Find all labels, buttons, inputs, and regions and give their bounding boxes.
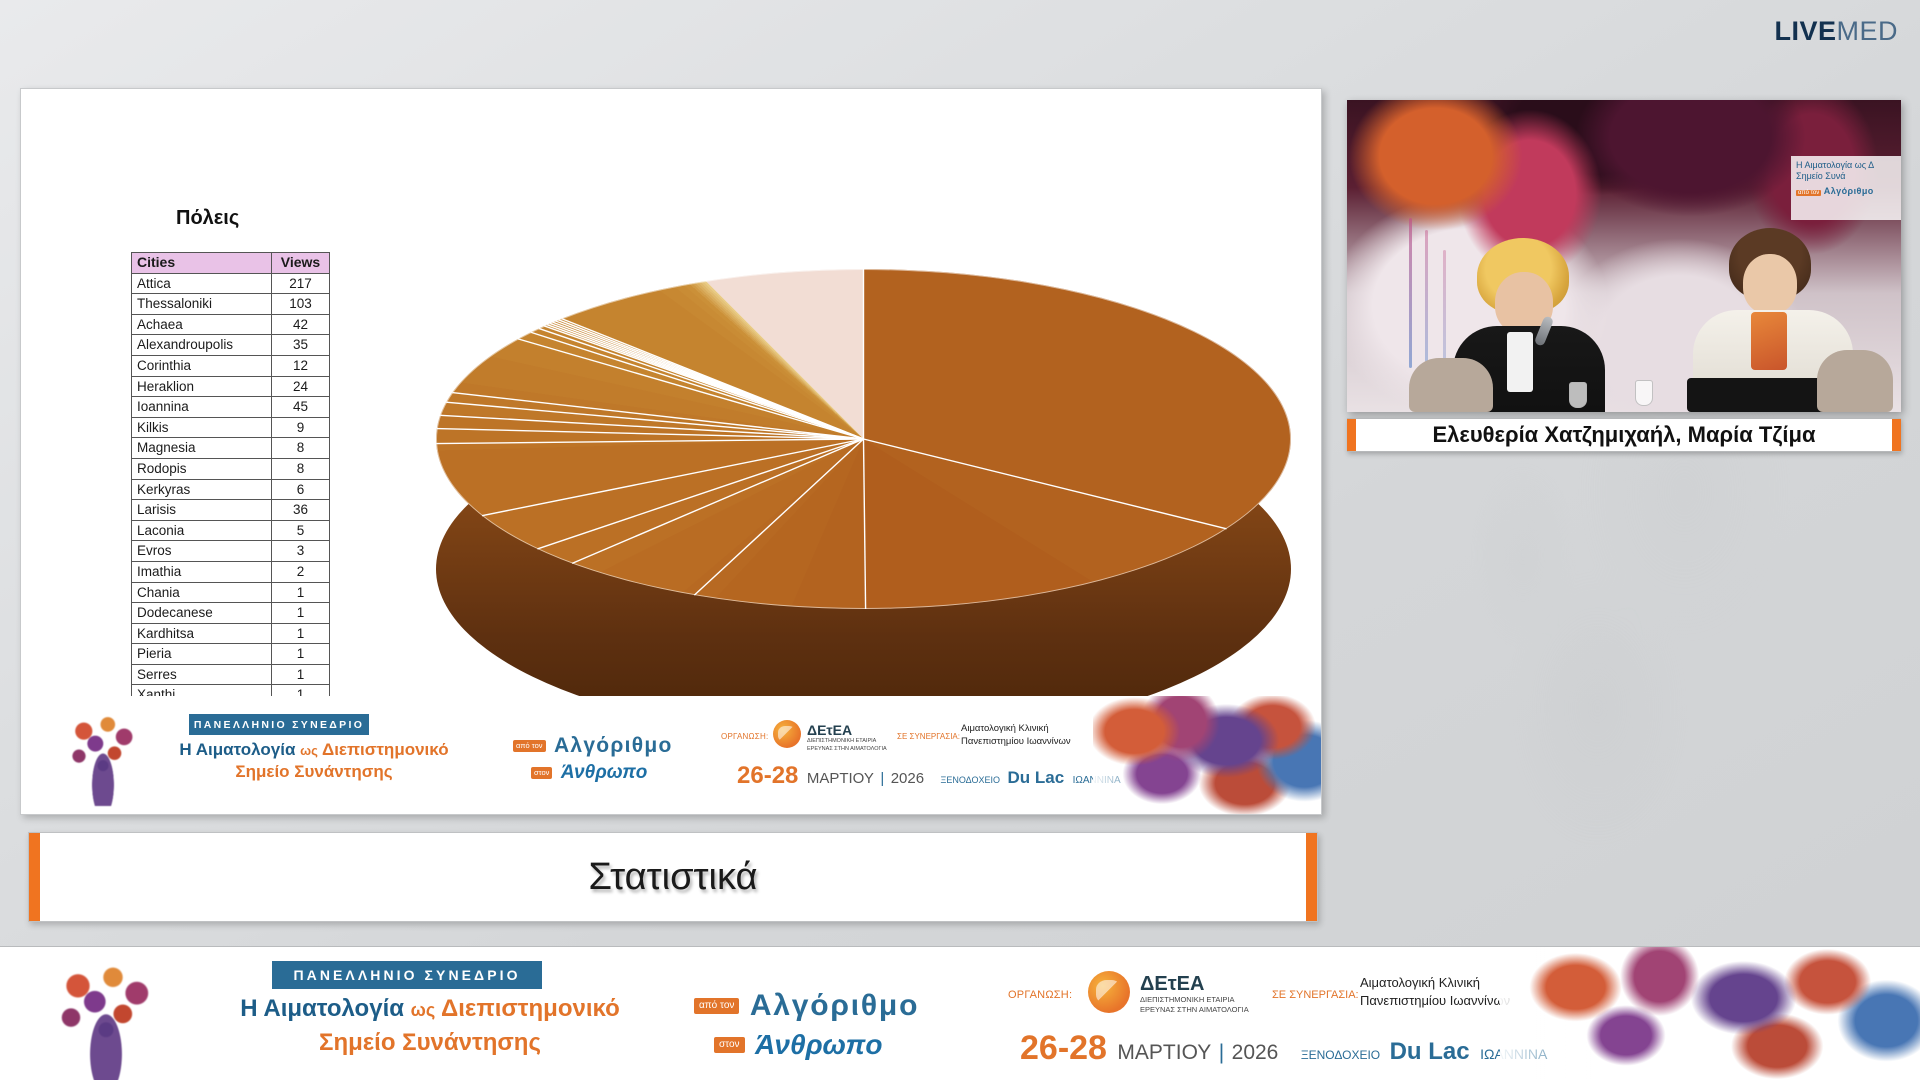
table-row: Thessaloniki103 <box>132 294 330 315</box>
banner-anthro-group: στον Άνθρωπο <box>531 762 647 784</box>
cell-views: 1 <box>272 582 330 603</box>
mini-slide-line1: Η Αιματολογία ως Δ <box>1796 160 1896 171</box>
banner-title-meeting-point: Σημείο Συνάντησης <box>235 762 392 781</box>
cell-views: 5 <box>272 520 330 541</box>
cell-city: Alexandroupolis <box>132 335 272 356</box>
cell-views: 36 <box>272 500 330 521</box>
banner-organizer-sub2: ΕΡΕΥΝΑΣ ΣΤΗΝ ΑΙΜΑΤΟΛΟΓΙΑ <box>807 746 887 752</box>
banner-tag: ΠΑΝΕΛΛΗΝΙΟ ΣΥΝΕΔΡΙΟ <box>189 714 369 735</box>
decor-strand <box>1409 218 1412 368</box>
bottom-algorithm: Αλγόριθμο <box>750 989 919 1022</box>
banner-organizer-sub1: ΔΙΕΠΙΣΤΗΜΟΝΙΚΗ ΕΤΑΙΡΙΑ <box>807 738 876 744</box>
cell-views: 12 <box>272 355 330 376</box>
banner-title-interdisciplinary: Διεπιστημονικό <box>322 740 449 759</box>
banner-title-h: Η <box>179 740 191 759</box>
table-row: Serres1 <box>132 664 330 685</box>
banner-title-hematology: Αιματολογία <box>196 740 296 759</box>
bottom-title-as: ως <box>411 1000 436 1020</box>
tree-logo-icon <box>36 959 176 1080</box>
cell-city: Rodopis <box>132 458 272 479</box>
banner-human: Άνθρωπο <box>561 762 648 783</box>
cell-views: 8 <box>272 458 330 479</box>
banner-venue-name: Du Lac <box>1007 768 1064 787</box>
chair <box>1409 358 1493 412</box>
bottom-banner-artwork <box>1500 947 1920 1080</box>
table-row: Heraklion24 <box>132 376 330 397</box>
table-row: Imathia2 <box>132 561 330 582</box>
cell-city: Larisis <box>132 500 272 521</box>
table-row: Rodopis8 <box>132 458 330 479</box>
banner-title-line1: Η Αιματολογία ως Διεπιστημονικό <box>149 740 479 760</box>
pie-slice-separators <box>436 269 1291 609</box>
banner-algorithm: Αλγόριθμο <box>554 734 673 757</box>
mini-slide-algo: Αλγόριθμο <box>1824 186 1874 196</box>
bottom-organizer-name: ΔΕτΕΑ <box>1140 973 1204 996</box>
banner-title-line2: Σημείο Συνάντησης <box>149 762 479 782</box>
bottom-organizer-sub2: ΕΡΕΥΝΑΣ ΣΤΗΝ ΑΙΜΑΤΟΛΟΓΙΑ <box>1140 1005 1249 1014</box>
table-header-cities: Cities <box>132 253 272 274</box>
table-header-row: Cities Views <box>132 253 330 274</box>
bottom-year: 2026 <box>1232 1041 1279 1064</box>
video-mini-slide-preview: Η Αιματολογία ως Δ Σημείο Συνά από τον Α… <box>1791 156 1901 220</box>
cities-views-table: Cities Views Attica217Thessaloniki103Ach… <box>131 252 330 727</box>
banner-title-as: ως <box>300 743 318 758</box>
table-row: Dodecanese1 <box>132 603 330 624</box>
bottom-partner-line1: Αιματολογική Κλινική <box>1360 975 1480 990</box>
table-row: Kerkyras6 <box>132 479 330 500</box>
bottom-chip-from: από τον <box>694 998 739 1014</box>
bottom-human: Άνθρωπο <box>755 1029 882 1060</box>
cell-views: 3 <box>272 541 330 562</box>
speaker-names: Ελευθερία Χατζημιχαήλ, Μαρία Τζίμα <box>1432 422 1815 448</box>
cell-city: Kilkis <box>132 417 272 438</box>
banner-partner-line2: Πανεπιστημίου Ιωαννίνων <box>961 736 1071 747</box>
bottom-partner-label: ΣΕ ΣΥΝΕΡΓΑΣΙΑ: <box>1272 989 1359 1001</box>
table-row: Laconia5 <box>132 520 330 541</box>
bottom-partner-line2: Πανεπιστημίου Ιωαννίνων <box>1360 993 1510 1008</box>
cell-views: 217 <box>272 273 330 294</box>
mini-slide-line2: Σημείο Συνά <box>1796 171 1896 182</box>
bottom-banner-tag: ΠΑΝΕΛΛΗΝΙΟ ΣΥΝΕΔΡΙΟ <box>272 961 542 989</box>
banner-date-sep: | <box>880 770 884 787</box>
person-scarf <box>1751 312 1787 370</box>
page-title: Πόλεις <box>176 207 239 230</box>
banner-month: ΜΑΡΤΙΟΥ <box>807 770 874 787</box>
banner-partner-label: ΣΕ ΣΥΝΕΡΓΑΣΙΑ: <box>897 732 960 741</box>
cell-views: 42 <box>272 314 330 335</box>
cell-city: Corinthia <box>132 355 272 376</box>
water-glass <box>1569 382 1587 408</box>
cell-city: Kerkyras <box>132 479 272 500</box>
cell-views: 1 <box>272 603 330 624</box>
cell-views: 1 <box>272 644 330 665</box>
water-glass <box>1635 380 1653 406</box>
bottom-title-hematology: Αιματολογία <box>263 995 404 1022</box>
bottom-venue-name: Du Lac <box>1390 1038 1470 1065</box>
livemed-logo-live: LIVE <box>1774 16 1836 46</box>
speaker-video[interactable]: Η Αιματολογία ως Δ Σημείο Συνά από τον Α… <box>1347 100 1901 412</box>
slide-conference-banner: ΠΑΝΕΛΛΗΝΙΟ ΣΥΝΕΔΡΙΟ Η Αιματολογία ως Διε… <box>21 696 1322 814</box>
cell-city: Dodecanese <box>132 603 272 624</box>
tree-logo-icon <box>55 710 151 806</box>
speaker-name-bar: Ελευθερία Χατζημιχαήλ, Μαρία Τζίμα <box>1347 418 1901 452</box>
bottom-conference-banner: ΠΑΝΕΛΛΗΝΙΟ ΣΥΝΕΔΡΙΟ Η Αιματολογία ως Διε… <box>0 946 1920 1080</box>
cell-views: 45 <box>272 397 330 418</box>
cell-city: Kardhitsa <box>132 623 272 644</box>
banner-dates: 26-28 <box>737 762 798 789</box>
slide-banner-artwork <box>1093 696 1322 814</box>
cell-city: Thessaloniki <box>132 294 272 315</box>
cell-city: Chania <box>132 582 272 603</box>
cell-views: 24 <box>272 376 330 397</box>
table-row: Alexandroupolis35 <box>132 335 330 356</box>
cell-views: 1 <box>272 623 330 644</box>
cell-views: 6 <box>272 479 330 500</box>
banner-organizer-label: ΟΡΓΑΝΩΣΗ: <box>721 732 768 741</box>
banner-venue-label: ΞΕΝΟΔΟΧΕΙΟ <box>941 775 1001 785</box>
cell-views: 9 <box>272 417 330 438</box>
table-row: Evros3 <box>132 541 330 562</box>
table-row: Kardhitsa1 <box>132 623 330 644</box>
table-row: Attica217 <box>132 273 330 294</box>
banner-year: 2026 <box>891 770 924 787</box>
bottom-algo-group: από τον Αλγόριθμο <box>694 989 919 1023</box>
banner-chip-from: από τον <box>513 740 546 752</box>
bottom-banner-title-line2: Σημείο Συνάντησης <box>190 1029 670 1057</box>
table-row: Achaea42 <box>132 314 330 335</box>
bottom-organizer-label: ΟΡΓΑΝΩΣΗ: <box>1008 989 1072 1001</box>
mini-slide-algo-row: από τον Αλγόριθμο <box>1796 186 1896 198</box>
person-head <box>1743 254 1797 314</box>
decor-strand <box>1425 230 1428 362</box>
chair <box>1817 350 1893 412</box>
cell-city: Heraklion <box>132 376 272 397</box>
cell-city: Ioannina <box>132 397 272 418</box>
livemed-logo-med: MED <box>1837 16 1899 46</box>
bottom-venue-label: ΞΕΝΟΔΟΧΕΙΟ <box>1301 1048 1380 1062</box>
cell-views: 35 <box>272 335 330 356</box>
cell-city: Evros <box>132 541 272 562</box>
banner-partner-line1: Αιματολογική Κλινική <box>961 723 1049 734</box>
cell-views: 1 <box>272 664 330 685</box>
bottom-month: ΜΑΡΤΙΟΥ <box>1117 1041 1211 1064</box>
bottom-organizer-sub1: ΔΙΕΠΙΣΤΗΜΟΝΙΚΗ ΕΤΑΙΡΙΑ <box>1140 995 1235 1004</box>
table-row: Corinthia12 <box>132 355 330 376</box>
table-row: Magnesia8 <box>132 438 330 459</box>
cell-city: Achaea <box>132 314 272 335</box>
banner-organizer-name: ΔΕτΕΑ <box>807 722 852 738</box>
bottom-date-sep: | <box>1219 1041 1224 1064</box>
bottom-title-interdisciplinary: Διεπιστημονικό <box>441 995 620 1022</box>
banner-date-row: 26-28 ΜΑΡΤΙΟΥ | 2026 ΞΕΝΟΔΟΧΕΙΟ Du Lac Ι… <box>737 762 1121 790</box>
bottom-dates: 26-28 <box>1020 1029 1107 1067</box>
detea-logo-icon <box>1088 971 1130 1013</box>
cell-views: 8 <box>272 438 330 459</box>
cell-city: Magnesia <box>132 438 272 459</box>
detea-logo-icon <box>773 720 801 748</box>
pie-chart <box>386 219 1286 759</box>
person-shirt <box>1507 332 1533 392</box>
cell-city: Serres <box>132 664 272 685</box>
table-row: Chania1 <box>132 582 330 603</box>
pie-chart-stage <box>411 229 1281 729</box>
pie-chart-top-face <box>436 269 1291 609</box>
banner-chip-to: στον <box>531 767 552 779</box>
cell-views: 103 <box>272 294 330 315</box>
cell-city: Laconia <box>132 520 272 541</box>
mini-slide-chip: από τον <box>1796 190 1821 196</box>
cell-city: Attica <box>132 273 272 294</box>
bottom-date-row: 26-28 ΜΑΡΤΙΟΥ | 2026 ΞΕΝΟΔΟΧΕΙΟ Du Lac Ι… <box>1020 1029 1547 1068</box>
bottom-chip-to: στον <box>714 1037 745 1053</box>
bottom-title-meeting-point: Σημείο Συνάντησης <box>319 1029 541 1056</box>
table-body: Attica217Thessaloniki103Achaea42Alexandr… <box>132 273 330 726</box>
table-row: Pieria1 <box>132 644 330 665</box>
cell-views: 2 <box>272 561 330 582</box>
table-header-views: Views <box>272 253 330 274</box>
table-row: Ioannina45 <box>132 397 330 418</box>
livemed-logo: LIVEMED <box>1774 16 1898 47</box>
cell-city: Pieria <box>132 644 272 665</box>
bottom-banner-title-line1: Η Αιματολογία ως Διεπιστημονικό <box>190 995 670 1023</box>
bottom-anthro-group: στον Άνθρωπο <box>714 1029 882 1061</box>
table-row: Larisis36 <box>132 500 330 521</box>
cell-city: Imathia <box>132 561 272 582</box>
presentation-slide[interactable]: Πόλεις Cities Views Attica217Thessalonik… <box>20 88 1322 815</box>
bottom-title-h: Η <box>240 995 257 1022</box>
statistics-title-text: Στατιστικά <box>589 856 758 899</box>
table-row: Kilkis9 <box>132 417 330 438</box>
statistics-title-strip: Στατιστικά <box>28 832 1318 922</box>
banner-algo-group: από τον Αλγόριθμο <box>513 734 673 758</box>
